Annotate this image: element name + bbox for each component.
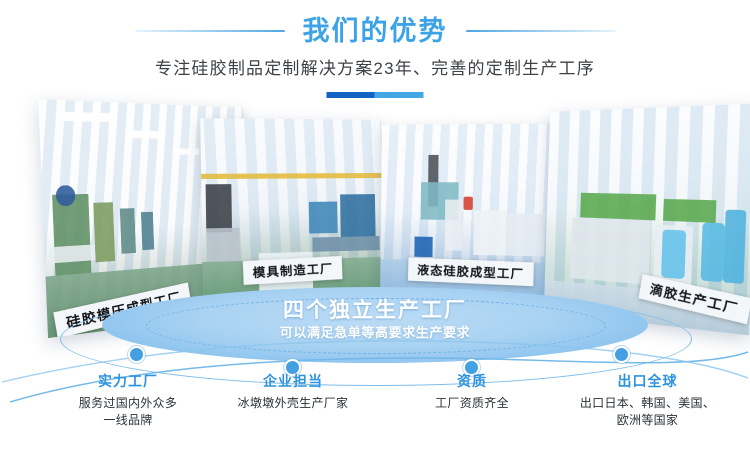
accent-bar (327, 92, 424, 98)
feature-item-4-desc-line1: 出口日本、韩国、美国、 (545, 395, 750, 411)
feature-item-4-desc-line2: 欧洲等国家 (545, 412, 750, 428)
connector-dot-1[interactable] (128, 346, 145, 363)
title-rule-left-icon (135, 30, 285, 32)
accent-bar-light-segment (375, 92, 424, 98)
title-row: 我们的优势 (0, 14, 750, 48)
title-rule-right-icon (466, 30, 616, 32)
gallery-photo-3[interactable]: 液态硅胶成型工厂 (380, 124, 554, 299)
feature-list: 实力工厂 服务过国内外众多 一线品牌 企业担当 冰墩墩外壳生产厂家 资质 工厂资… (0, 372, 750, 452)
gallery-photo-2[interactable]: 模具制造工厂 (200, 118, 383, 302)
feature-item-3-title: 资质 (382, 372, 562, 390)
feature-item-2-title: 企业担当 (198, 372, 388, 390)
feature-item-3[interactable]: 资质 工厂资质齐全 (382, 372, 562, 411)
feature-item-4[interactable]: 出口全球 出口日本、韩国、美国、 欧洲等国家 (545, 372, 750, 428)
feature-item-2-desc-line1: 冰墩墩外壳生产厂家 (198, 395, 388, 411)
page-subtitle: 专注硅胶制品定制解决方案23年、完善的定制生产工序 (0, 54, 750, 79)
advantages-banner: 我们的优势 专注硅胶制品定制解决方案23年、完善的定制生产工序 硅胶模压成型工厂 (0, 0, 750, 461)
feature-item-4-title: 出口全球 (545, 372, 750, 390)
feature-item-2[interactable]: 企业担当 冰墩墩外壳生产厂家 (198, 372, 388, 411)
page-title: 我们的优势 (303, 18, 448, 45)
connector-dot-4[interactable] (613, 346, 630, 363)
feature-item-1-desc-line2: 一线品牌 (28, 412, 228, 428)
feature-item-3-desc-line1: 工厂资质齐全 (382, 395, 562, 411)
accent-bar-dark-segment (327, 92, 375, 98)
banner-header: 我们的优势 专注硅胶制品定制解决方案23年、完善的定制生产工序 (0, 0, 750, 105)
